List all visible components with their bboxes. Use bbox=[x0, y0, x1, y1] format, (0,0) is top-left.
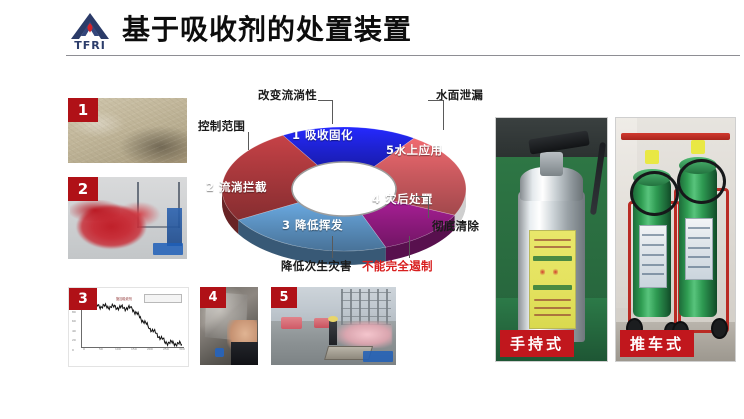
logo-wordmark: TFRI bbox=[62, 39, 118, 52]
cart-hose-b bbox=[677, 159, 726, 204]
chart-y-tick: 40 bbox=[72, 329, 76, 333]
photo-2-spill-secondary bbox=[70, 200, 120, 221]
leader-line-5h bbox=[428, 100, 444, 101]
leader-line-4v bbox=[428, 196, 429, 218]
triangle-flame-logo-icon bbox=[68, 12, 112, 40]
photo-4-device bbox=[215, 348, 224, 357]
chart-series-line bbox=[82, 300, 182, 360]
chart-y-tick: 60 bbox=[72, 319, 76, 323]
leader-line-5v bbox=[443, 100, 444, 130]
photo-card-3-chart[interactable]: 施加吸收剂 050100150200250300 100806040200 3 bbox=[68, 287, 189, 367]
photo-5-tank-a bbox=[281, 317, 302, 329]
product-photo-cart[interactable]: 推车式 bbox=[615, 117, 736, 362]
callout-control-range: 控制范围 bbox=[198, 118, 245, 134]
photo-5-helmet bbox=[328, 316, 338, 322]
cart-cap-a bbox=[645, 150, 659, 165]
segment-label-1[interactable]: 1 吸收固化 bbox=[292, 127, 353, 143]
leader-line-3v bbox=[332, 236, 333, 258]
photo-card-2[interactable]: 2 bbox=[68, 177, 187, 259]
photo-5-structure bbox=[341, 289, 391, 325]
callout-reduce-secondary: 降低次生灾害 bbox=[281, 258, 352, 274]
chart-x-tick: 0 bbox=[83, 347, 85, 351]
photo-4-sleeve bbox=[231, 342, 258, 365]
slide: TFRI 基于吸收剂的处置装置 1 2 施加吸收剂 05010015020025… bbox=[0, 0, 744, 419]
chart-x-tick: 200 bbox=[147, 347, 153, 351]
caption-cart: 推车式 bbox=[620, 330, 694, 357]
photo-2-blue-object bbox=[167, 208, 182, 246]
photo-card-5[interactable]: 5 bbox=[271, 287, 396, 365]
photo-badge-4: 4 bbox=[200, 287, 226, 308]
segment-label-5[interactable]: 5水上应用 bbox=[386, 142, 443, 158]
page-title: 基于吸收剂的处置装置 bbox=[122, 12, 412, 48]
chart-x-tick: 300 bbox=[179, 347, 185, 351]
photo-badge-3: 3 bbox=[69, 288, 97, 310]
photo-badge-5: 5 bbox=[271, 287, 297, 308]
chart-x-tick: 250 bbox=[163, 347, 169, 351]
callout-change-flow: 改变流淌性 bbox=[258, 87, 317, 103]
cart-cap-b bbox=[691, 140, 705, 155]
tfri-logo: TFRI bbox=[62, 12, 118, 52]
warning-note: 不能完全遏制 bbox=[362, 258, 433, 274]
photo-card-1[interactable]: 1 bbox=[68, 98, 187, 163]
leader-line-1v bbox=[332, 100, 333, 124]
caption-handheld: 手持式 bbox=[500, 330, 574, 357]
chart-y-tick: 20 bbox=[72, 338, 76, 342]
photo-5-foam bbox=[337, 321, 392, 348]
chart-x-tick: 50 bbox=[99, 347, 103, 351]
photo-2-watermark bbox=[153, 243, 183, 255]
header-divider bbox=[66, 55, 740, 56]
leader-line-2v bbox=[248, 132, 249, 150]
chart-x-tick: 150 bbox=[131, 347, 137, 351]
slide-header: TFRI 基于吸收剂的处置装置 bbox=[0, 0, 744, 58]
handheld-label bbox=[529, 230, 575, 329]
photo-5-watermark bbox=[363, 351, 393, 362]
cart-label-a bbox=[639, 225, 667, 288]
photo-card-4[interactable]: 4 bbox=[200, 287, 258, 365]
cart-label-b bbox=[685, 218, 713, 281]
leader-line-warning bbox=[409, 236, 410, 258]
cycle-donut-diagram: 1 吸收固化 2 流淌拦截 3 降低挥发 4 灾后处置 5水上应用 改变流淌性 … bbox=[196, 86, 496, 276]
segment-label-3[interactable]: 3 降低挥发 bbox=[282, 217, 343, 233]
leader-line-4h bbox=[414, 196, 429, 197]
photo-badge-2: 2 bbox=[68, 177, 98, 201]
chart-x-tick: 100 bbox=[115, 347, 121, 351]
chart-y-tick: 80 bbox=[72, 310, 76, 314]
photo-badge-1: 1 bbox=[68, 98, 98, 122]
segment-label-2[interactable]: 2 流淌拦截 bbox=[206, 179, 267, 195]
segment-label-4[interactable]: 4 灾后处置 bbox=[372, 191, 433, 207]
handheld-valve bbox=[540, 152, 562, 176]
callout-complete-removal: 彻底清除 bbox=[432, 218, 479, 234]
cart-ceiling-rail bbox=[621, 133, 730, 140]
leader-line-1h bbox=[318, 100, 333, 101]
chart-y-tick: 0 bbox=[72, 348, 74, 352]
photo-5-firefighter bbox=[329, 318, 338, 345]
product-photo-handheld[interactable]: 手持式 bbox=[495, 117, 608, 362]
